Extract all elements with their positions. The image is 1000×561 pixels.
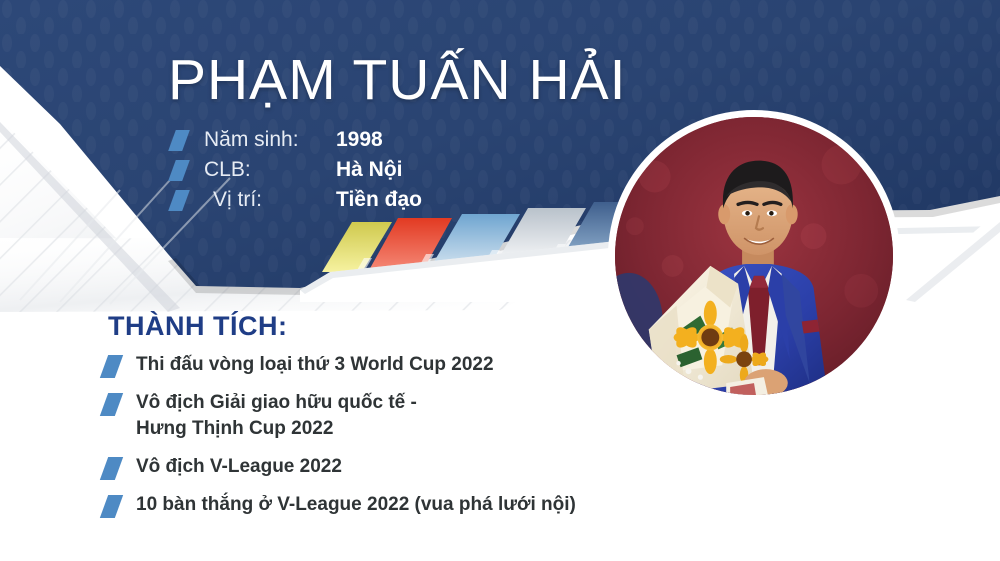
slash-bullet-icon bbox=[168, 160, 190, 181]
slash-bullet-icon bbox=[100, 393, 123, 416]
page-title: PHẠM TUẤN HẢI bbox=[168, 47, 627, 113]
list-item: Vô địch Giải giao hữu quốc tế - Hưng Thị… bbox=[104, 390, 704, 442]
achievements-list: Thi đấu vòng loại thứ 3 World Cup 2022 V… bbox=[104, 352, 704, 530]
info-label: CLB: bbox=[204, 158, 336, 182]
info-value: Hà Nội bbox=[336, 158, 403, 182]
slash-bullet-icon bbox=[100, 355, 123, 378]
info-row-club: CLB: Hà Nội bbox=[172, 155, 422, 185]
player-portrait-illustration bbox=[615, 117, 893, 395]
list-item: Thi đấu vòng loại thứ 3 World Cup 2022 bbox=[104, 352, 704, 378]
avatar bbox=[615, 117, 893, 395]
info-value: 1998 bbox=[336, 128, 383, 152]
slash-bullet-icon bbox=[100, 495, 123, 518]
achievements-heading: THÀNH TÍCH: bbox=[108, 311, 287, 342]
slash-bullet-icon bbox=[168, 130, 190, 151]
achievement-text: Vô địch V-League 2022 bbox=[136, 454, 342, 480]
player-info-list: Năm sinh: 1998 CLB: Hà Nội Vị trí: Tiền … bbox=[172, 125, 422, 215]
list-item: 10 bàn thắng ở V-League 2022 (vua phá lư… bbox=[104, 492, 704, 518]
slash-bullet-icon bbox=[168, 190, 190, 211]
achievement-text: Vô địch Giải giao hữu quốc tế - Hưng Thị… bbox=[136, 390, 417, 442]
achievement-text: 10 bàn thắng ở V-League 2022 (vua phá lư… bbox=[136, 492, 576, 518]
infographic-card: PHẠM TUẤN HẢI Năm sinh: 1998 CLB: Hà Nội… bbox=[0, 0, 1000, 561]
list-item: Vô địch V-League 2022 bbox=[104, 454, 704, 480]
info-label: Vị trí: bbox=[204, 188, 336, 212]
info-row-birth-year: Năm sinh: 1998 bbox=[172, 125, 422, 155]
slash-bullet-icon bbox=[100, 457, 123, 480]
info-label: Năm sinh: bbox=[204, 128, 336, 152]
info-value: Tiền đạo bbox=[336, 188, 422, 212]
player-photo-frame bbox=[608, 110, 900, 402]
info-row-position: Vị trí: Tiền đạo bbox=[172, 185, 422, 215]
achievement-text: Thi đấu vòng loại thứ 3 World Cup 2022 bbox=[136, 352, 494, 378]
